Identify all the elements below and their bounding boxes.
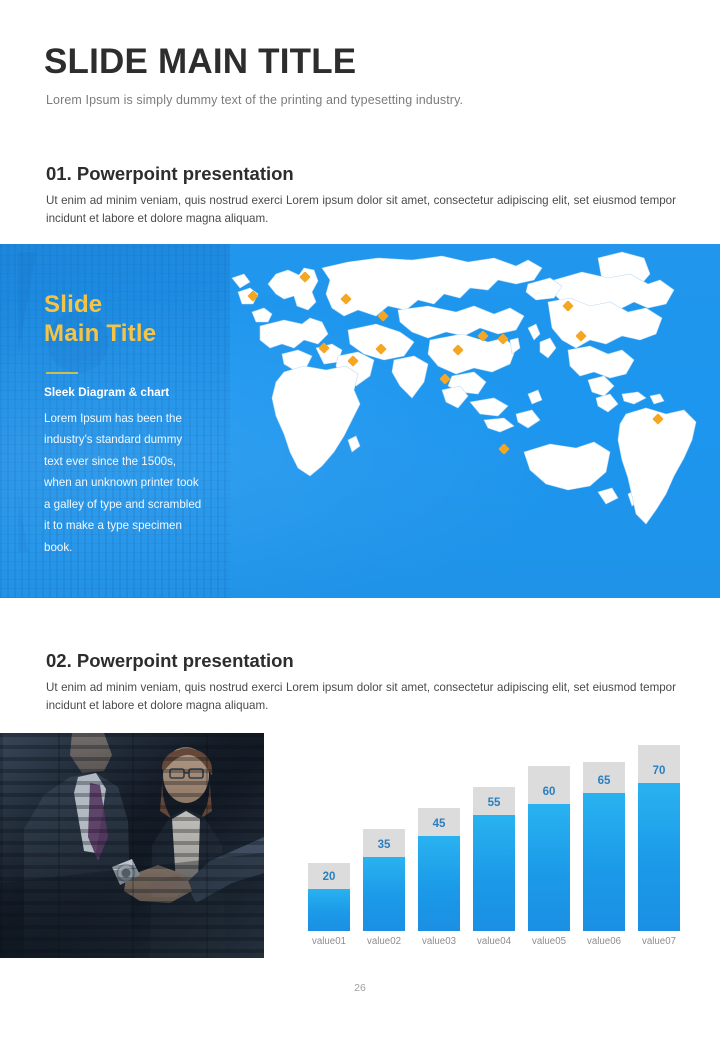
bar-category-label: value03 bbox=[409, 936, 469, 947]
bar-value-label: 70 bbox=[638, 765, 680, 777]
section-01-heading: 01. Powerpoint presentation bbox=[46, 163, 294, 185]
bar-value-label: 45 bbox=[418, 818, 460, 830]
bar-column[interactable]: 60 bbox=[528, 766, 570, 931]
map-panel-title: Slide Main Title bbox=[44, 290, 204, 349]
bar-value-segment bbox=[583, 793, 625, 931]
bar-column[interactable]: 65 bbox=[583, 762, 625, 931]
slide-page: SLIDE MAIN TITLE Lorem Ipsum is simply d… bbox=[0, 0, 720, 1040]
page-subtitle: Lorem Ipsum is simply dummy text of the … bbox=[46, 93, 463, 107]
bar-value-segment bbox=[638, 783, 680, 931]
bar-value-label: 65 bbox=[583, 775, 625, 787]
map-panel-text-block: Slide Main Title Sleek Diagram & chart L… bbox=[44, 290, 204, 558]
page-number: 26 bbox=[0, 982, 720, 994]
map-panel-subtitle: Sleek Diagram & chart bbox=[44, 385, 204, 399]
business-handshake-photo bbox=[0, 733, 264, 958]
bar-column[interactable]: 45 bbox=[418, 808, 460, 931]
bar-category-label: value04 bbox=[464, 936, 524, 947]
bar-value-label: 35 bbox=[363, 839, 405, 851]
bar-remainder-segment bbox=[528, 766, 570, 804]
map-panel-title-line1: Slide bbox=[44, 290, 204, 319]
bar-remainder-segment bbox=[638, 745, 680, 783]
section-02-heading: 02. Powerpoint presentation bbox=[46, 650, 294, 672]
bar-category-label: value07 bbox=[629, 936, 689, 947]
section-01-body: Ut enim ad minim veniam, quis nostrud ex… bbox=[46, 192, 676, 228]
bar-value-segment bbox=[363, 857, 405, 931]
chart-plot-area: 20value0135value0245value0355value0460va… bbox=[296, 730, 696, 931]
bar-value-segment bbox=[418, 836, 460, 931]
bar-value-label: 60 bbox=[528, 786, 570, 798]
bar-chart: 20value0135value0245value0355value0460va… bbox=[296, 730, 696, 962]
bar-value-segment bbox=[308, 889, 350, 931]
bar-column[interactable]: 35 bbox=[363, 829, 405, 931]
title-divider bbox=[46, 372, 78, 375]
bar-column[interactable]: 70 bbox=[638, 745, 680, 931]
page-title: SLIDE MAIN TITLE bbox=[44, 43, 356, 82]
bar-category-label: value06 bbox=[574, 936, 634, 947]
bar-value-segment bbox=[473, 815, 515, 931]
bar-value-label: 20 bbox=[308, 871, 350, 883]
bar-category-label: value02 bbox=[354, 936, 414, 947]
map-panel-body: Lorem Ipsum has been the industry's stan… bbox=[44, 408, 204, 558]
map-panel: Slide Main Title Sleek Diagram & chart L… bbox=[0, 244, 720, 598]
bar-column[interactable]: 55 bbox=[473, 787, 515, 931]
section-02-body: Ut enim ad minim veniam, quis nostrud ex… bbox=[46, 679, 676, 715]
bar-value-label: 55 bbox=[473, 797, 515, 809]
bar-category-label: value01 bbox=[299, 936, 359, 947]
world-map bbox=[198, 244, 720, 544]
bar-value-segment bbox=[528, 804, 570, 931]
map-panel-title-line2: Main Title bbox=[44, 319, 204, 348]
map-landmasses bbox=[232, 252, 696, 524]
bar-category-label: value05 bbox=[519, 936, 579, 947]
bar-column[interactable]: 20 bbox=[308, 863, 350, 931]
